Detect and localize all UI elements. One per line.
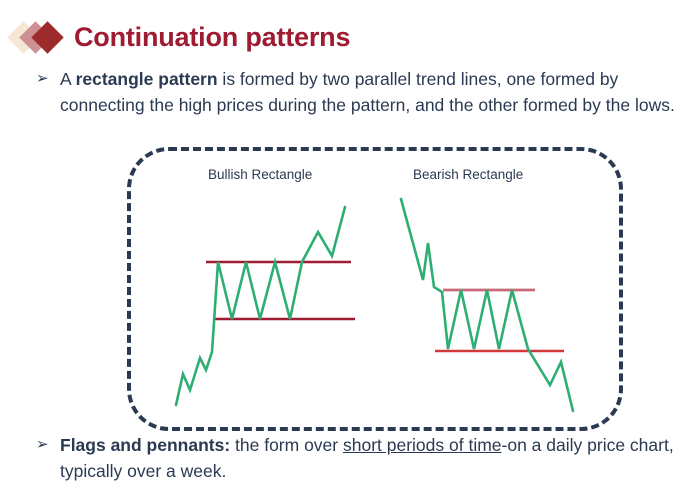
chart-label-bearish: Bearish Rectangle	[413, 167, 523, 182]
bullet-segment: the form over	[230, 435, 343, 455]
bullet-segment-underline: short periods of time	[343, 435, 502, 455]
chart-label-bullish: Bullish Rectangle	[208, 167, 312, 182]
bullet-text: Flags and pennants: the form over short …	[60, 432, 682, 484]
bullet-segment-bold: rectangle pattern	[76, 69, 218, 89]
bullet-arrow-icon: ➢	[32, 66, 60, 118]
bullet-segment-bold: Flags and pennants:	[60, 435, 230, 455]
bullet-item-flags-pennants: ➢ Flags and pennants: the form over shor…	[32, 432, 682, 484]
bullet-item-rectangle-pattern: ➢ A rectangle pattern is formed by two p…	[32, 66, 682, 118]
page-header: Continuation patterns	[0, 14, 687, 60]
page-title: Continuation patterns	[74, 22, 350, 53]
bullet-segment: A	[60, 69, 76, 89]
bullet-arrow-icon: ➢	[32, 432, 60, 484]
figure-container	[127, 147, 623, 431]
diamonds-icon	[10, 17, 72, 57]
bullet-text: A rectangle pattern is formed by two par…	[60, 66, 682, 118]
